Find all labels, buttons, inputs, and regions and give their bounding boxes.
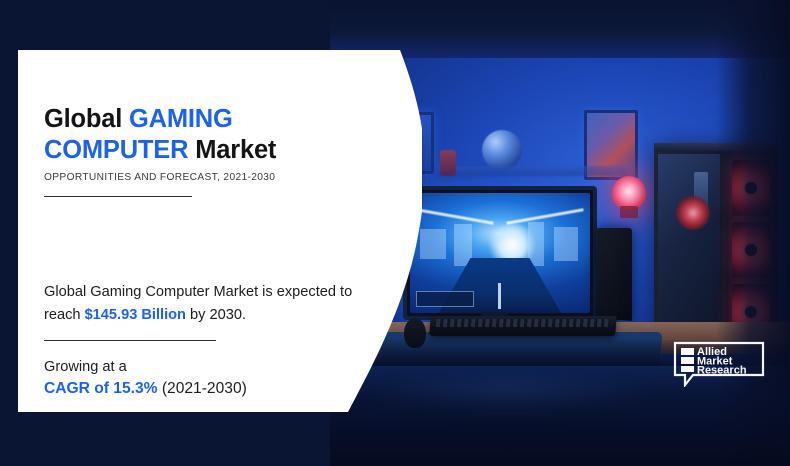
stat-tail: by 2030. xyxy=(186,307,246,323)
pc-tower-glass-panel xyxy=(658,154,720,340)
stat-value: $145.93 Billion xyxy=(85,307,186,323)
allied-market-research-logo: Allied Market Research xyxy=(673,341,765,387)
screen-detail xyxy=(416,208,493,224)
title-word-global: Global xyxy=(44,105,129,133)
decor-sphere xyxy=(482,130,522,170)
divider-bottom xyxy=(44,340,216,341)
screen-hud xyxy=(416,291,474,307)
gaming-monitor xyxy=(403,186,597,320)
pink-lamp xyxy=(612,176,646,210)
mechanical-keyboard xyxy=(429,316,617,336)
cagr-period: (2021-2030) xyxy=(158,380,247,397)
market-stat: Global Gaming Computer Market is expecte… xyxy=(44,281,384,327)
screen-detail xyxy=(420,229,446,259)
infographic-banner: Global GAMINGCOMPUTER Market OPPORTUNITI… xyxy=(0,0,790,466)
screen-detail xyxy=(554,227,578,261)
subtitle: OPPORTUNITIES AND FORECAST, 2021-2030 xyxy=(44,172,275,183)
desk-decor-object xyxy=(440,150,456,176)
title-word-computer: COMPUTER xyxy=(44,136,188,164)
screen-detail xyxy=(506,208,583,224)
growth-label: Growing at a xyxy=(44,356,127,379)
divider-top xyxy=(44,196,192,197)
title-word-market: Market xyxy=(188,136,276,164)
screen-detail xyxy=(528,222,544,266)
title-word-gaming: GAMING xyxy=(129,105,233,133)
page-title: Global GAMINGCOMPUTER Market xyxy=(44,104,374,166)
screen-detail xyxy=(454,224,472,266)
pc-tower-inner-fan xyxy=(676,196,710,230)
monitor-screen xyxy=(410,193,590,313)
wall-shelf xyxy=(438,166,628,176)
cagr-line: CAGR of 15.3% (2021-2030) xyxy=(44,378,247,400)
screen-detail xyxy=(498,283,501,309)
keyboard-keys xyxy=(436,319,611,327)
cagr-value: CAGR of 15.3% xyxy=(44,380,158,397)
svg-text:Research: Research xyxy=(697,365,747,377)
logo-speech-bubble-icon: Allied Market Research xyxy=(673,341,765,387)
pink-lamp-base xyxy=(620,206,638,218)
desktop-speaker xyxy=(596,228,632,324)
